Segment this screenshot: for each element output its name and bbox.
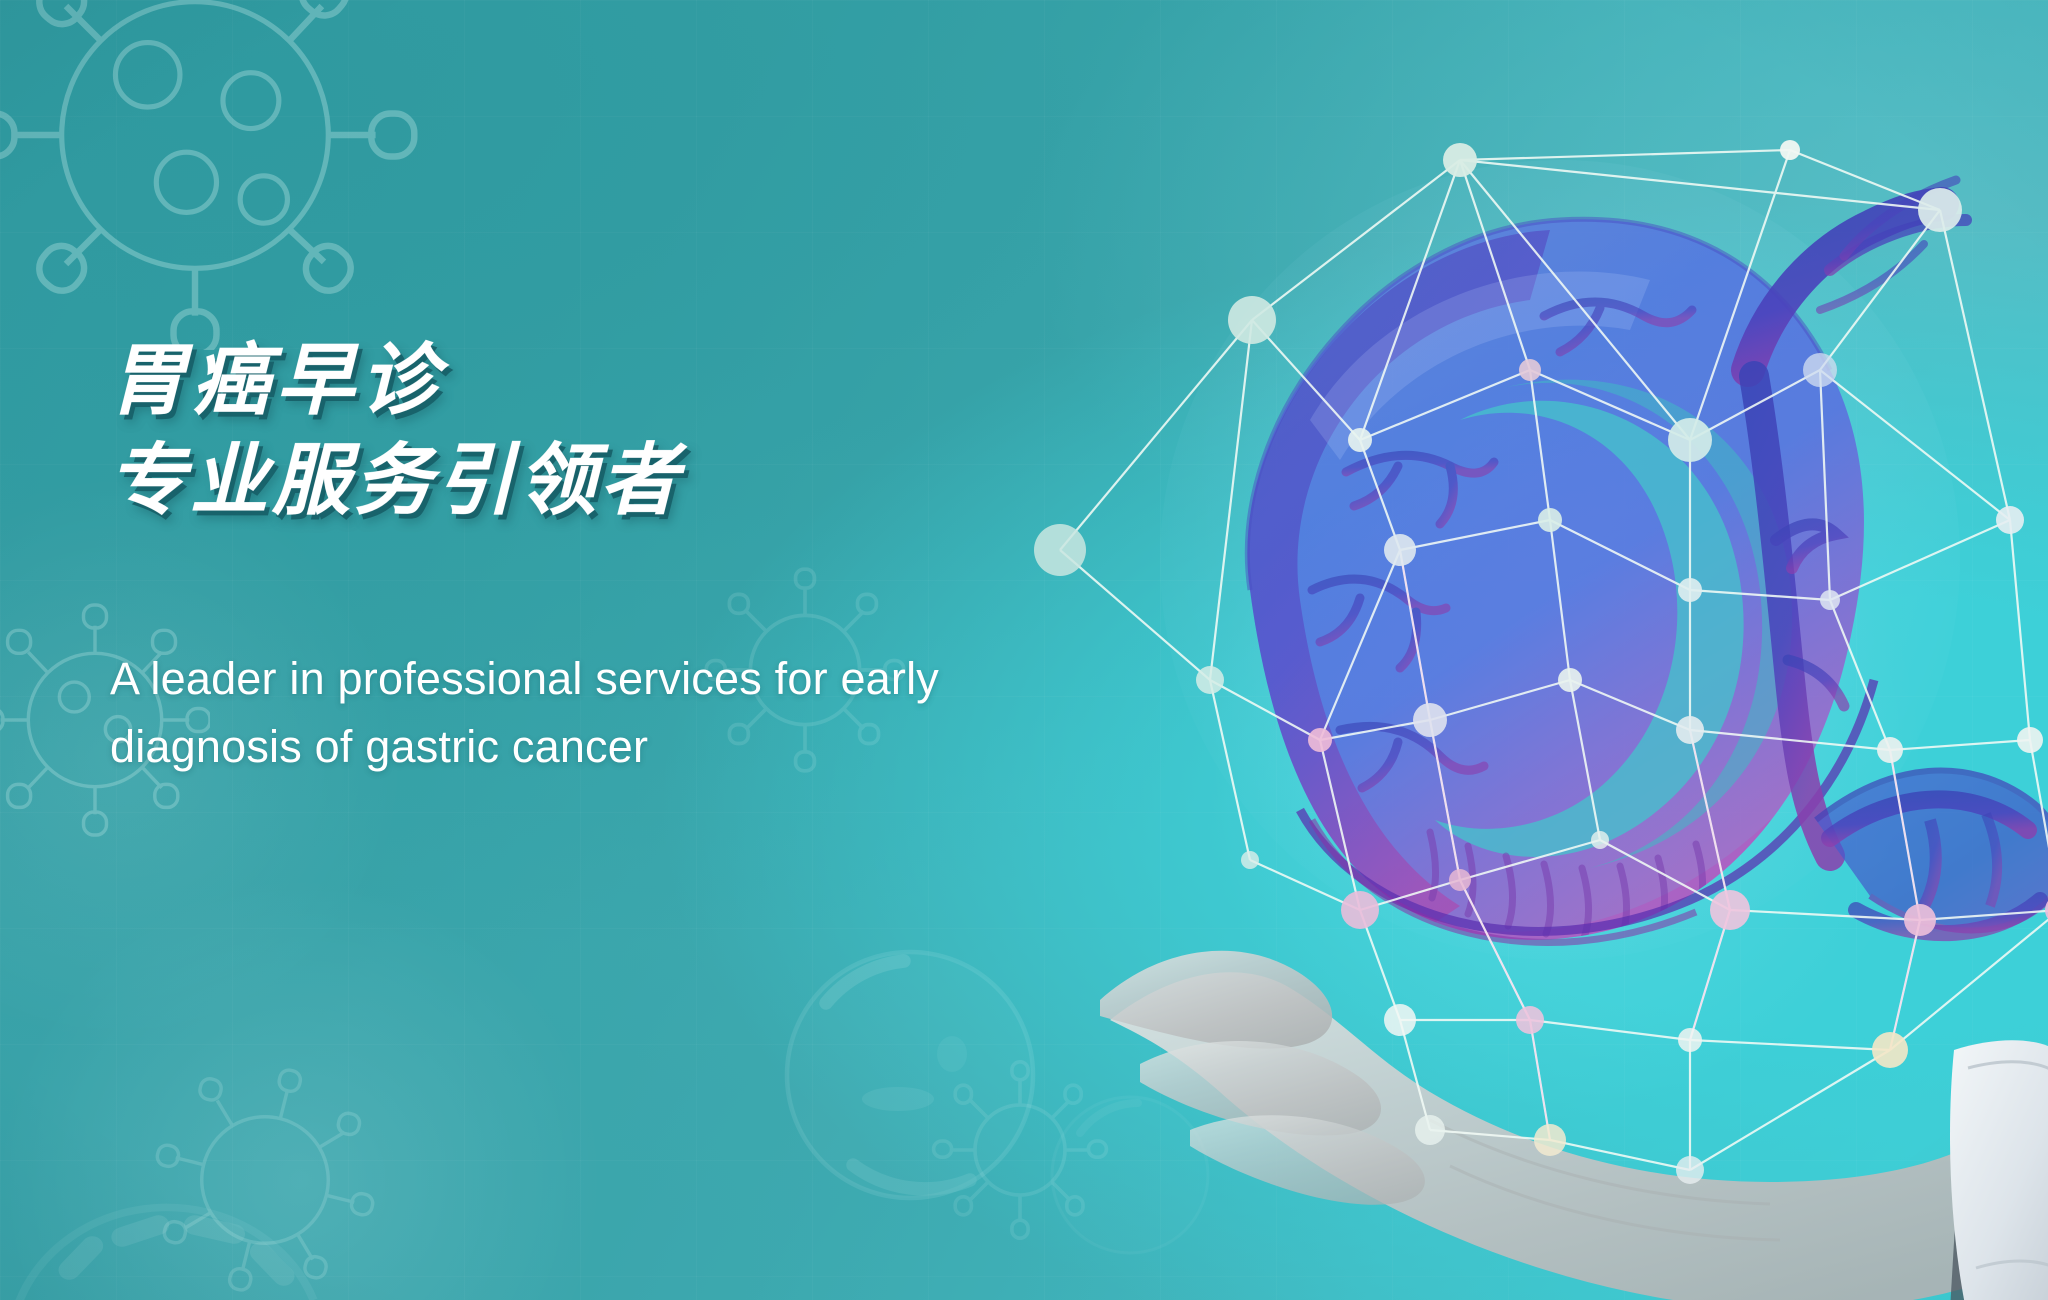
hero-illustration: [1130, 120, 2048, 1300]
subtitle-line-1: A leader in professional services for ea…: [110, 645, 1140, 713]
subtitle-block: A leader in professional services for ea…: [110, 645, 1140, 781]
banner-root: 胃癌早诊 专业服务引领者 A leader in professional se…: [0, 0, 2048, 1300]
headline-line-2: 专业服务引领者: [108, 430, 1108, 530]
headline-line-1: 胃癌早诊: [108, 330, 1108, 430]
subtitle-line-2: diagnosis of gastric cancer: [110, 713, 1140, 781]
hand-illustration: [1100, 951, 2048, 1300]
headline-block: 胃癌早诊 专业服务引领者: [108, 330, 1108, 530]
